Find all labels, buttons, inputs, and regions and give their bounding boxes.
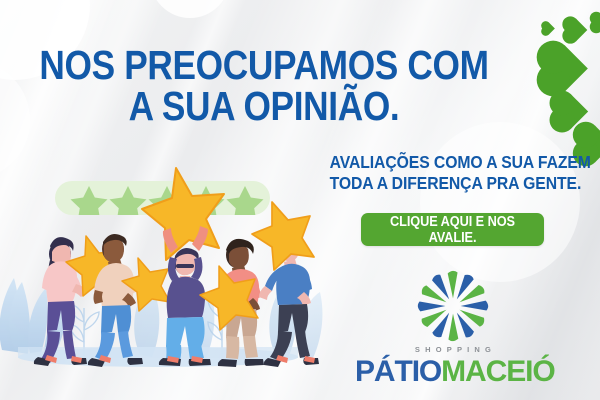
headline-line-1: NOS PREOCUPAMOS COM [39,42,488,88]
heart-icon [565,19,588,42]
subheading: AVALIAÇÕES COMO A SUA FAZEM TODA A DIFER… [330,152,575,194]
people-with-stars-illustration [0,150,330,400]
heart-decoration-cluster [530,0,600,165]
headline: NOS PREOCUPAMOS COM A SUA OPINIÃO. [37,45,491,125]
heart-icon [542,22,555,35]
pinwheel-logo-icon [414,268,492,344]
subheading-line-2: TODA A DIFERENÇA PRA GENTE. [330,173,575,194]
logo-word-maceio: MACEIÓ [441,355,554,388]
logo-word-patio: PÁTIO [355,355,441,388]
star-shape [142,168,224,260]
subheading-line-1: AVALIAÇÕES COMO A SUA FAZEM [330,152,575,173]
star-shape [252,202,314,270]
cta-button-label: CLIQUE AQUI E NOS AVALIE. [372,214,533,246]
promo-banner: NOS PREOCUPAMOS COM A SUA OPINIÃO. [0,0,600,400]
heart-icon [541,45,588,92]
brand-logo[interactable]: SHOPPING PÁTIOMACEIÓ [355,268,551,389]
logo-wordmark: PÁTIOMACEIÓ [355,355,551,389]
headline-line-2: A SUA OPINIÃO. [37,86,491,126]
logo-shopping-label: SHOPPING [355,345,551,354]
cta-button[interactable]: CLIQUE AQUI E NOS AVALIE. [361,213,544,246]
heart-icon [591,13,600,31]
background-swoop [150,0,230,18]
